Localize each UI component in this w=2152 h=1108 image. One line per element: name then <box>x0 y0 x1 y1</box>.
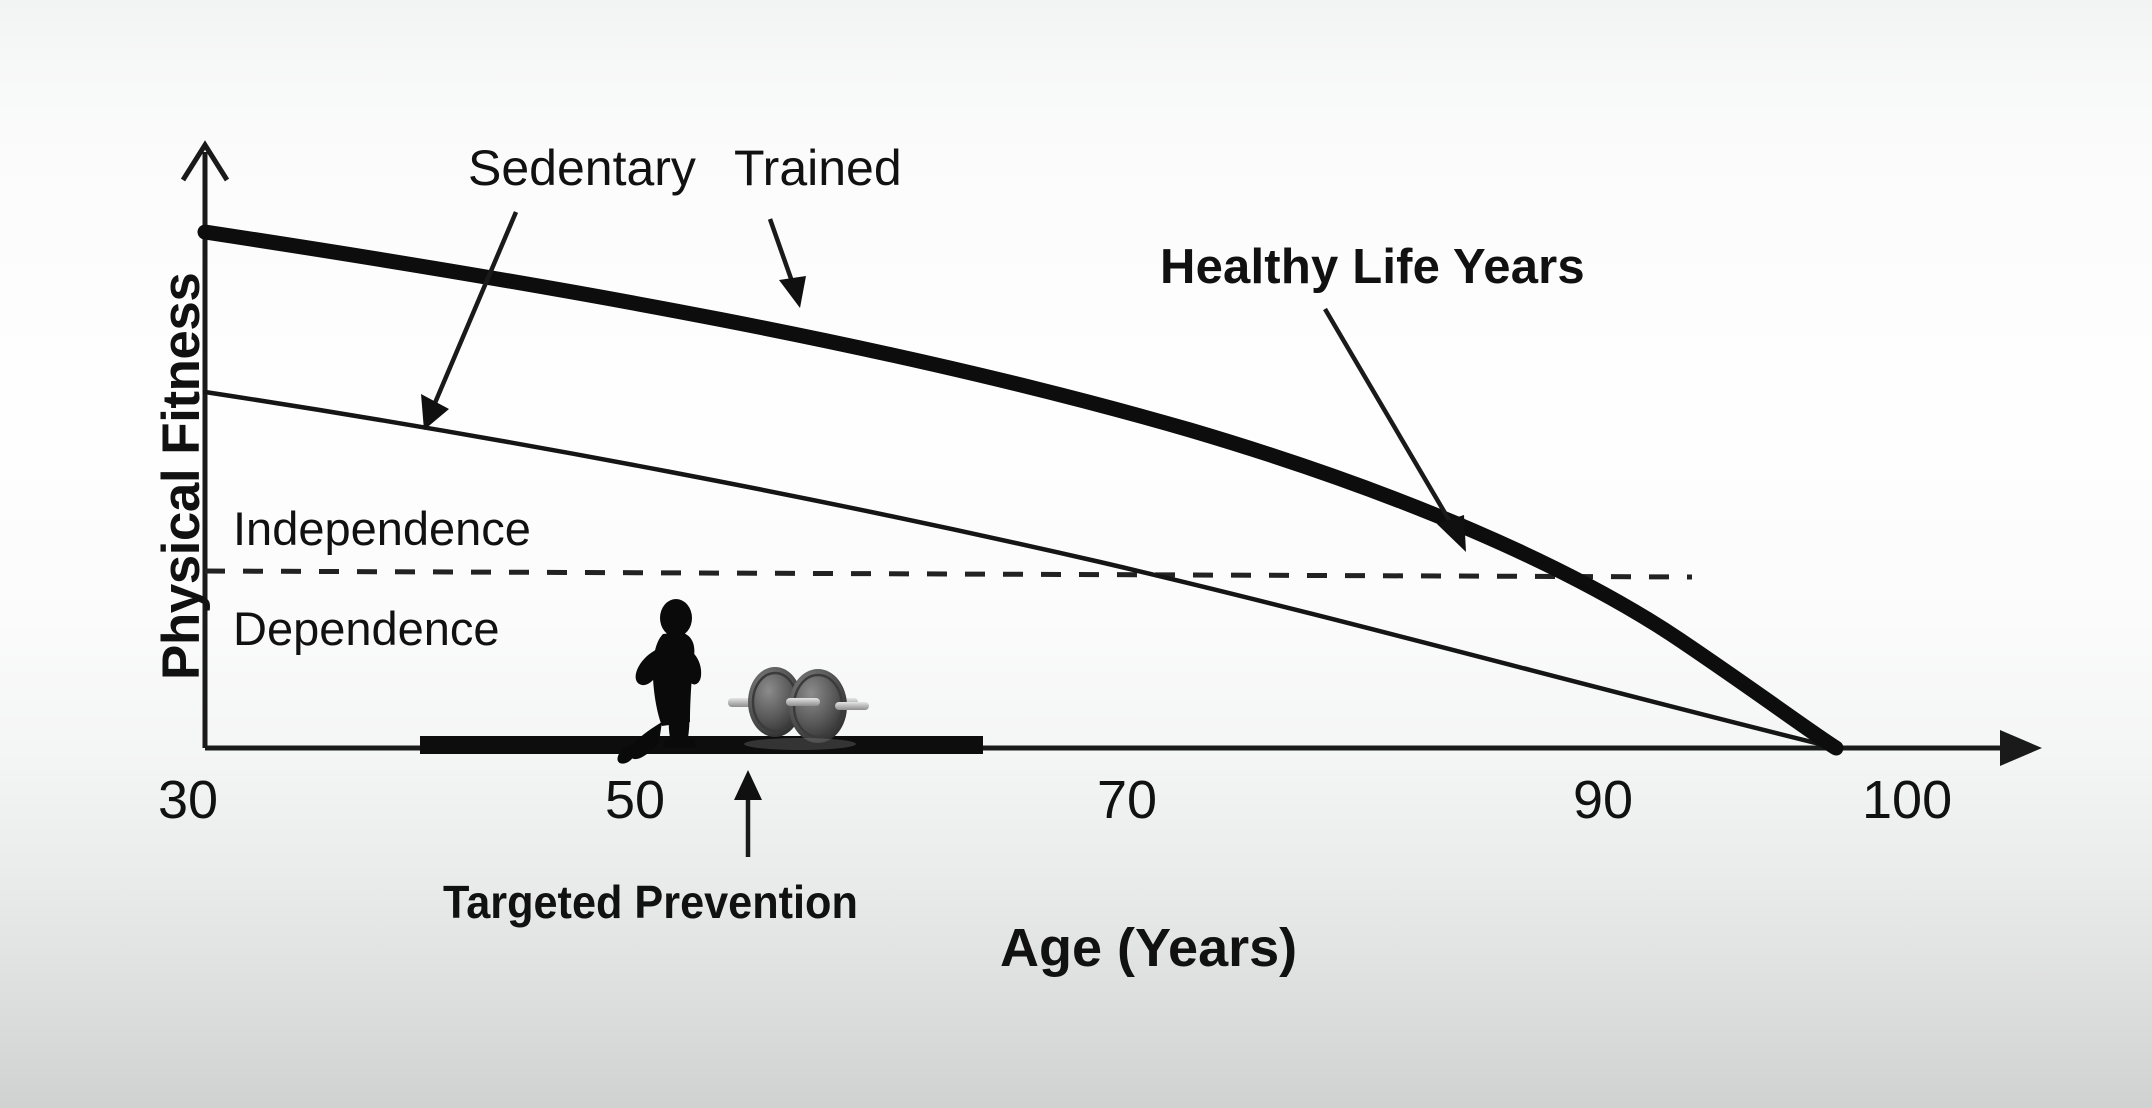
x-axis-title: Age (Years) <box>1000 921 1297 975</box>
figure-canvas: Physical Fitness Sedentary Trained Healt… <box>0 0 2152 1108</box>
healthy-life-years-annotation-arrow <box>1325 309 1466 552</box>
independence-threshold-line <box>205 571 1692 577</box>
targeted-prevention-bar <box>420 736 983 754</box>
x-tick-label-90: 90 <box>1573 773 1633 827</box>
dependence-label: Dependence <box>233 605 500 652</box>
axis-arrow-right-icon <box>2000 730 2042 766</box>
healthy-life-years-annotation-label: Healthy Life Years <box>1160 243 1585 292</box>
trained-annotation-arrow <box>770 219 806 308</box>
independence-label: Independence <box>233 505 531 552</box>
x-tick-label-100: 100 <box>1862 773 1952 827</box>
sedentary-annotation-arrow <box>421 212 516 430</box>
targeted-prevention-arrow-up-icon <box>734 770 762 857</box>
y-axis-title: Physical Fitness <box>155 273 208 680</box>
x-tick-label-70: 70 <box>1097 773 1157 827</box>
trained-curve <box>205 232 1836 748</box>
targeted-prevention-label: Targeted Prevention <box>443 879 858 925</box>
x-tick-label-30: 30 <box>158 773 218 827</box>
x-tick-label-50: 50 <box>605 773 665 827</box>
sedentary-annotation-label: Sedentary <box>468 143 696 193</box>
trained-annotation-label: Trained <box>734 143 902 193</box>
